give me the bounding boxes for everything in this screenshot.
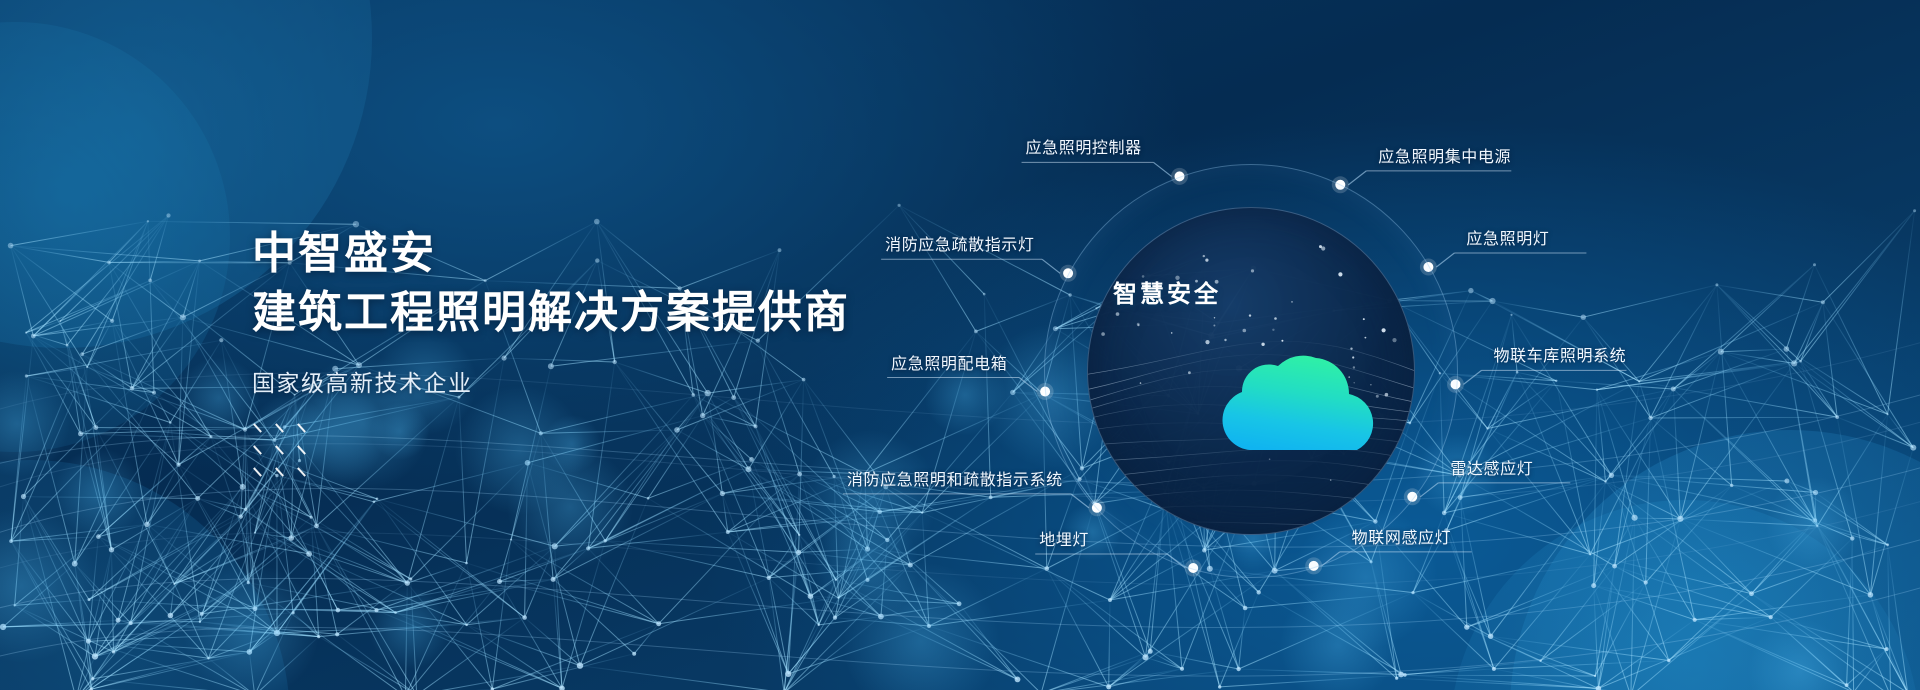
node-label[interactable]: 应急照明灯	[1466, 225, 1549, 249]
central-diagram: 智慧安全	[1040, 155, 1460, 585]
node-label[interactable]: 物联车库照明系统	[1493, 342, 1626, 366]
dash-grid-decoration	[252, 418, 318, 484]
node-label[interactable]: 消防应急照明和疏散指示系统	[847, 466, 1063, 490]
dash-mark	[274, 418, 296, 440]
decorative-circle-bottom-left	[0, 460, 290, 690]
dash-mark	[274, 440, 296, 462]
dash-mark	[296, 462, 318, 484]
dash-mark	[274, 462, 296, 484]
inner-globe: 智慧安全	[1087, 207, 1415, 535]
node-label[interactable]: 物联网感应灯	[1352, 524, 1452, 548]
brand-title-line-1: 中智盛安	[252, 225, 952, 284]
decorative-circle-bottom-right-large	[1510, 430, 1920, 690]
headline-block: 中智盛安 建筑工程照明解决方案提供商 国家级高新技术企业	[252, 225, 952, 398]
node-label[interactable]: 地埋灯	[1039, 526, 1089, 550]
node-label[interactable]: 消防应急疏散指示灯	[885, 231, 1034, 255]
decorative-circle-top-left-small	[0, 22, 230, 452]
node-label[interactable]: 应急照明集中电源	[1378, 143, 1511, 167]
brand-subtitle: 国家级高新技术企业	[252, 364, 952, 398]
cloud-icon	[1220, 348, 1378, 476]
dash-mark	[296, 440, 318, 462]
dash-mark	[252, 440, 274, 462]
decorative-circle-bottom-right-small	[1450, 500, 1920, 690]
node-label[interactable]: 雷达感应灯	[1450, 455, 1533, 479]
node-label[interactable]: 应急照明配电箱	[891, 350, 1007, 374]
dash-mark	[252, 462, 274, 484]
node-label[interactable]: 应急照明控制器	[1026, 134, 1142, 158]
dash-mark	[252, 418, 274, 440]
brand-title-line-2: 建筑工程照明解决方案提供商	[252, 284, 952, 343]
dash-mark	[296, 418, 318, 440]
hero-banner: 中智盛安 建筑工程照明解决方案提供商 国家级高新技术企业	[0, 0, 1920, 690]
